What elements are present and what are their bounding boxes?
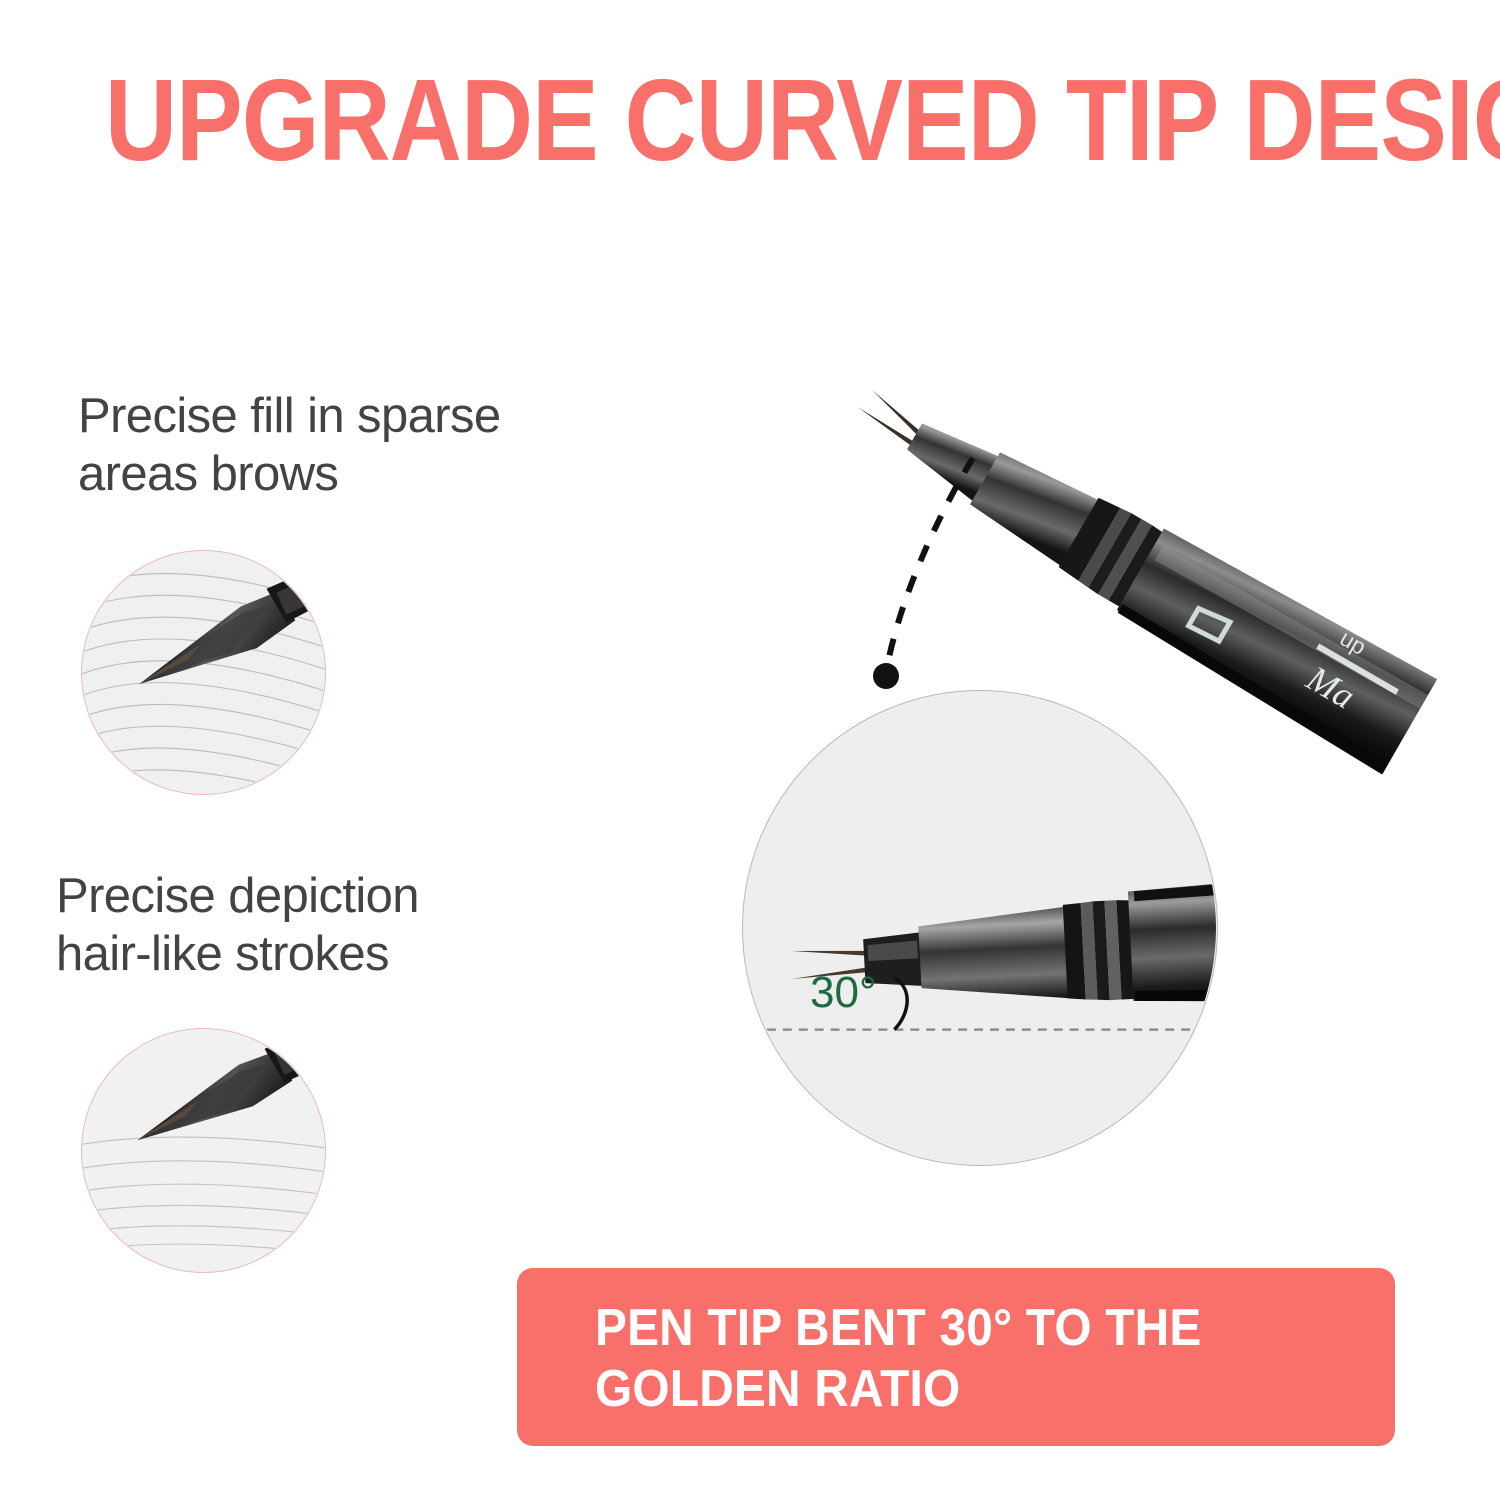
angle-value-label: 30° — [810, 968, 877, 1018]
page-title: UPGRADE CURVED TIP DESIGN — [105, 62, 1395, 178]
pen-barrel-script-text: Ma — [1299, 657, 1361, 716]
sparse-brows-closeup-icon — [82, 551, 325, 794]
infographic-canvas: UPGRADE CURVED TIP DESIGN Precise fill i… — [0, 0, 1500, 1500]
hair-like-strokes-closeup-icon — [82, 1029, 325, 1272]
feature-caption-hair-strokes: Precise depiction hair-like strokes — [56, 868, 696, 984]
callout-dashed-pointer — [855, 440, 1045, 710]
pointer-dash-path — [888, 458, 973, 662]
pointer-dot — [873, 663, 899, 689]
feature-inset-hair-strokes — [81, 1028, 326, 1273]
banner-text: PEN TIP BENT 30° TO THE GOLDEN RATIO — [595, 1298, 1331, 1421]
feature-caption-sparse-brows: Precise fill in sparse areas brows — [78, 388, 718, 504]
pen-barrel-text: up — [1336, 625, 1371, 660]
pen-tip-angle-magnifier — [742, 690, 1218, 1166]
bottom-banner: PEN TIP BENT 30° TO THE GOLDEN RATIO — [517, 1268, 1395, 1446]
feature-inset-sparse-brows — [81, 550, 326, 795]
